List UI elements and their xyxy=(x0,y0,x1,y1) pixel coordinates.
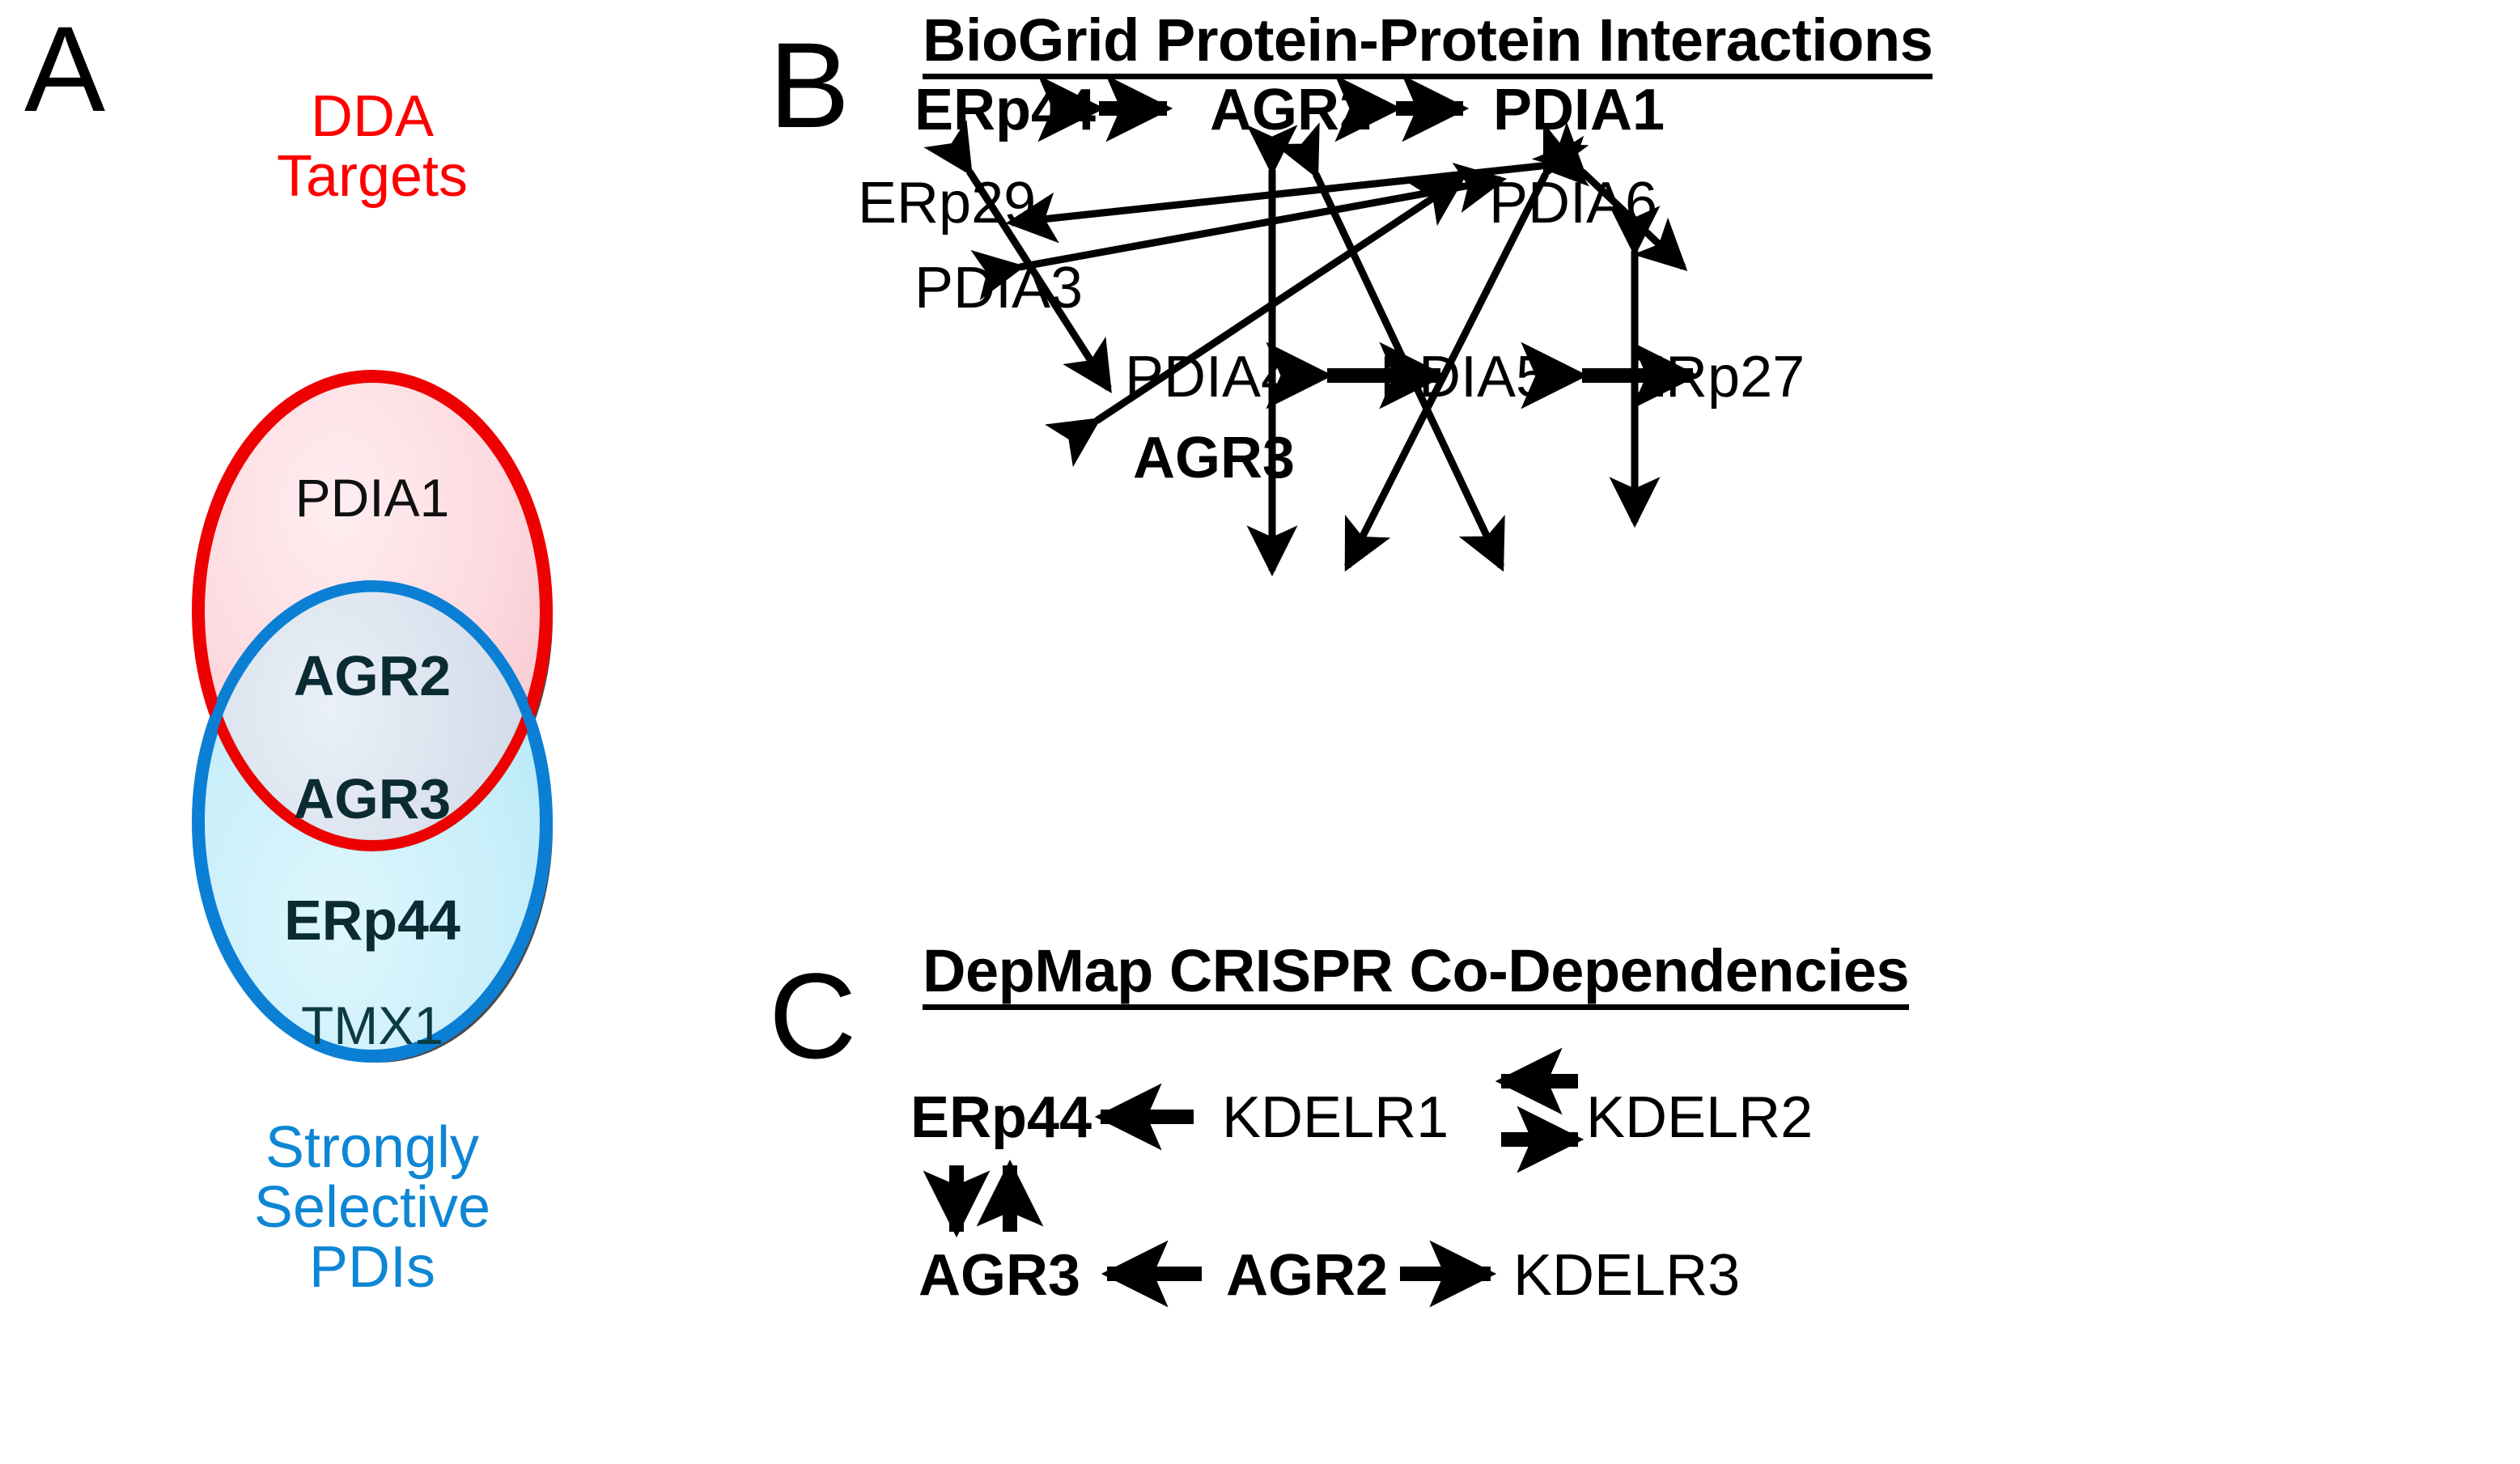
node-c-agr3[interactable]: AGR3 xyxy=(918,1246,1080,1305)
node-b-agr2[interactable]: AGR2 xyxy=(1210,81,1372,139)
panel-c-letter: C xyxy=(769,955,856,1076)
node-c-kdelr2[interactable]: KDELR2 xyxy=(1586,1088,1813,1147)
panel-b-letter: B xyxy=(769,24,850,146)
panel-c-title: DepMap CRISPR Co-Dependencies xyxy=(923,940,1909,1010)
panel-b: B BioGrid Protein-Protein Interactions xyxy=(769,0,2520,931)
node-b-pdia6[interactable]: PDIA6 xyxy=(1489,174,1657,232)
edge-pdia1-erp29 xyxy=(1012,166,1542,223)
panel-a-bottom-caption-line2: Selective xyxy=(129,1178,615,1237)
node-b-erp29[interactable]: ERp29 xyxy=(858,174,1036,232)
panel-c: C DepMap CRISPR Co-Dependencies ERp44 KD… xyxy=(769,931,2520,1464)
edge-erp29-agr2 xyxy=(1020,180,1501,267)
panel-a-bottom-caption-line3: PDIs xyxy=(129,1238,615,1296)
node-c-agr2[interactable]: AGR2 xyxy=(1226,1246,1388,1305)
node-b-pdia5[interactable]: PDIA5 xyxy=(1380,348,1548,406)
node-b-erp44[interactable]: ERp44 xyxy=(914,81,1096,139)
venn-label-erp44: ERp44 xyxy=(129,888,615,953)
node-b-agr3[interactable]: AGR3 xyxy=(1133,429,1295,487)
panel-a-top-caption-line1: DDA xyxy=(129,87,615,146)
venn-label-agr2: AGR2 xyxy=(129,643,615,708)
panel-b-title: BioGrid Protein-Protein Interactions xyxy=(923,10,1932,79)
panel-a-top-caption-line2: Targets xyxy=(129,147,615,206)
panel-a-bottom-caption-line1: Strongly xyxy=(129,1118,615,1177)
node-b-pdia4[interactable]: PDIA4 xyxy=(1125,348,1293,406)
node-b-pdia3[interactable]: PDIA3 xyxy=(914,259,1083,317)
venn-label-agr3: AGR3 xyxy=(129,766,615,831)
venn-diagram: PDIA1 AGR2 AGR3 ERp44 TMX1 xyxy=(129,368,615,1097)
node-c-erp44[interactable]: ERp44 xyxy=(910,1088,1092,1147)
panel-a-letter: A xyxy=(24,8,105,129)
node-c-kdelr1[interactable]: KDELR1 xyxy=(1222,1088,1449,1147)
venn-label-tmx1: TMX1 xyxy=(129,995,615,1056)
panel-a: A DDA Targets xyxy=(0,0,769,1464)
node-b-erp27[interactable]: ERp27 xyxy=(1627,348,1805,406)
venn-label-pdia1: PDIA1 xyxy=(129,467,615,528)
panel-c-edge-layer xyxy=(769,931,2520,1464)
figure-root: A DDA Targets xyxy=(0,0,2520,1464)
node-c-kdelr3[interactable]: KDELR3 xyxy=(1513,1246,1740,1305)
node-b-pdia1[interactable]: PDIA1 xyxy=(1493,81,1665,139)
